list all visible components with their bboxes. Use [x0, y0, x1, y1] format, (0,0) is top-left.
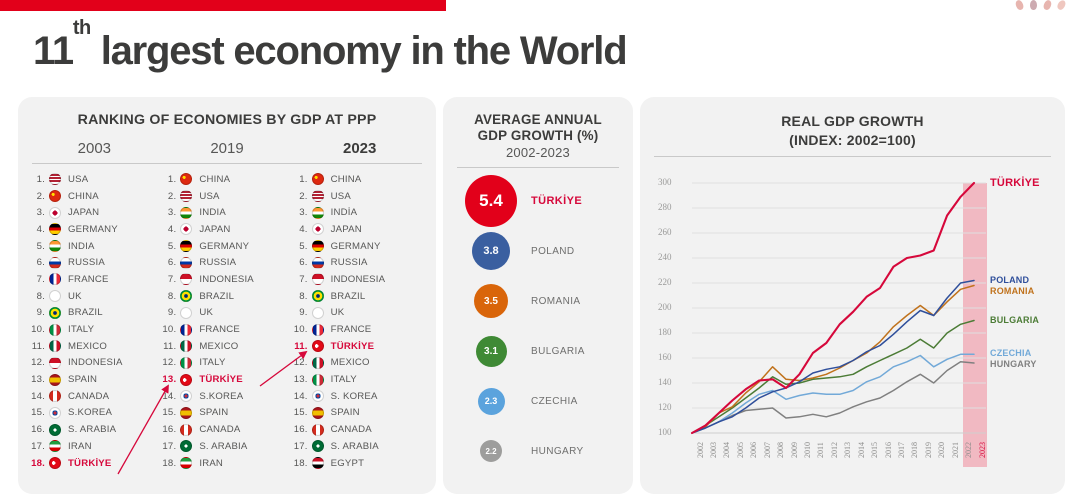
rank-number: 12. [293, 357, 312, 368]
country-name: ITALY [61, 324, 94, 335]
rank-number: 4. [161, 224, 180, 235]
flag-icon-br [312, 290, 324, 302]
growth-panel-subtitle: 2002-2023 [451, 145, 625, 161]
y-axis-tick-label: 120 [658, 402, 672, 412]
country-name: UK [192, 307, 213, 318]
country-name: CANADA [324, 424, 372, 435]
flag-icon-us [49, 173, 61, 185]
x-axis-tick-label: 2010 [803, 442, 812, 458]
country-name: ITALY [192, 357, 225, 368]
x-axis-tick-label: 2020 [937, 442, 946, 458]
table-row: 12.MEXICO [293, 355, 424, 372]
rank-number: 15. [293, 407, 312, 418]
rank-number: 11. [161, 341, 180, 352]
table-row: 4.JAPAN [161, 221, 292, 238]
flag-icon-us [312, 190, 324, 202]
x-axis-tick-label: 2004 [722, 442, 731, 458]
table-row: 17.S. ARABIA [293, 438, 424, 455]
series-label-hungary: HUNGARY [990, 359, 1037, 369]
table-row: 11.MEXICO [30, 338, 161, 355]
growth-bubble-label: POLAND [517, 246, 575, 257]
chart-panel-title: REAL GDP GROWTH (INDEX: 2002=100) [640, 97, 1065, 150]
country-name: TÜRKİYE [324, 341, 375, 352]
flag-icon-de [49, 223, 61, 235]
table-row: 6.RUSSIA [293, 254, 424, 271]
country-name: S.KOREA [192, 391, 243, 402]
table-row: 16.CANADA [161, 421, 292, 438]
growth-bubble-value: 2.3 [478, 388, 505, 415]
x-axis-tick-label: 2005 [736, 442, 745, 458]
flag-icon-ca [49, 390, 61, 402]
rank-number: 5. [293, 241, 312, 252]
series-label-bulgaria: BULGARIA [990, 315, 1039, 325]
page-title: 11th largest economy in the World [33, 29, 626, 74]
flag-icon-br [49, 307, 61, 319]
table-row: 3.JAPAN [30, 204, 161, 221]
country-name: CHINA [61, 191, 99, 202]
flag-icon-in [180, 207, 192, 219]
country-name: IRAN [61, 441, 92, 452]
country-name: INDONESIA [192, 274, 254, 285]
table-row: 18.EGYPT [293, 455, 424, 472]
table-row: 4.GERMANY [30, 221, 161, 238]
table-row: 7.INDONESIA [293, 271, 424, 288]
y-axis-tick-label: 200 [658, 302, 672, 312]
year-header-2023: 2023 [293, 140, 426, 157]
flag-icon-kr [180, 390, 192, 402]
rank-number: 2. [161, 191, 180, 202]
table-row: 17.IRAN [30, 438, 161, 455]
growth-bubble-list: 5.4TÜRKİYE3.8POLAND3.5ROMANIA3.1BULGARIA… [443, 168, 633, 476]
flag-icon-ir [180, 457, 192, 469]
x-axis-tick-label: 2022 [964, 442, 973, 458]
y-axis-tick-label: 220 [658, 277, 672, 287]
table-row: 4.JAPAN [293, 221, 424, 238]
x-axis-tick-label: 2017 [897, 442, 906, 458]
table-row: 15.SPAIN [161, 405, 292, 422]
country-name: INDIA [61, 241, 95, 252]
table-row: 8.BRAZIL [293, 288, 424, 305]
country-name: FRANCE [324, 324, 372, 335]
rank-number: 3. [161, 207, 180, 218]
y-axis-tick-label: 100 [658, 427, 672, 437]
rank-number: 3. [30, 207, 49, 218]
rank-number: 11. [30, 341, 49, 352]
country-name: UK [324, 307, 345, 318]
flag-icon-jp [312, 223, 324, 235]
page-title-ordinal: th [73, 17, 91, 39]
rank-number: 2. [30, 191, 49, 202]
series-label-romania: ROMANIA [990, 286, 1034, 296]
table-row: 1.CHINA [293, 171, 424, 188]
rank-number: 6. [293, 257, 312, 268]
table-row: 10.FRANCE [161, 321, 292, 338]
flag-icon-jp [180, 223, 192, 235]
flag-icon-fr [49, 273, 61, 285]
ranking-columns: 1.USA2.CHINA3.JAPAN4.GERMANY5.INDIA6.RUS… [18, 164, 436, 471]
ranking-row-highlight: 18.TÜRKİYE [30, 455, 161, 472]
rank-number: 13. [161, 374, 180, 385]
table-row: 10.FRANCE [293, 321, 424, 338]
page-title-rest: largest economy in the World [91, 29, 627, 73]
country-name: IRAN [192, 458, 223, 469]
rank-number: 10. [293, 324, 312, 335]
growth-bubble-value: 3.1 [476, 336, 507, 367]
growth-panel-title: AVERAGE ANNUAL GDP GROWTH (%) 2002-2023 [443, 97, 633, 161]
x-axis-tick-label: 2002 [696, 442, 705, 458]
gdp-chart-panel: REAL GDP GROWTH (INDEX: 2002=100) 100120… [640, 97, 1065, 494]
flag-icon-id [49, 357, 61, 369]
year-header-2019: 2019 [161, 140, 294, 157]
rank-number: 5. [30, 241, 49, 252]
flag-icon-it [49, 324, 61, 336]
series-label-türki̇ye: TÜRKİYE [990, 177, 1040, 189]
page-title-number: 11 [33, 29, 73, 73]
rank-number: 7. [293, 274, 312, 285]
x-axis-tick-label: 2009 [790, 442, 799, 458]
flag-icon-in [49, 240, 61, 252]
table-row: 5.GERMANY [161, 238, 292, 255]
rank-number: 14. [293, 391, 312, 402]
flag-icon-it [312, 374, 324, 386]
country-name: EGYPT [324, 458, 365, 469]
rank-number: 6. [161, 257, 180, 268]
country-name: CHINA [192, 174, 230, 185]
table-row: 3.INDİA [293, 204, 424, 221]
table-row: 11.MEXICO [161, 338, 292, 355]
rank-number: 4. [293, 224, 312, 235]
ranking-column-2003: 1.USA2.CHINA3.JAPAN4.GERMANY5.INDIA6.RUS… [30, 171, 161, 471]
country-name: JAPAN [324, 224, 362, 235]
country-name: S.KOREA [61, 407, 112, 418]
x-axis-tick-label: 2014 [857, 442, 866, 458]
country-name: BRAZIL [61, 307, 103, 318]
country-name: CHINA [324, 174, 362, 185]
country-name: RUSSIA [192, 257, 236, 268]
rank-number: 10. [30, 324, 49, 335]
country-name: S. ARABIA [61, 424, 116, 435]
country-name: INDİA [324, 207, 358, 218]
chart-plot-area: 1001201401601802002202402602803002002200… [654, 175, 1051, 485]
table-row: 17.S. ARABIA [161, 438, 292, 455]
ranking-row-highlight: 11.TÜRKİYE [293, 338, 424, 355]
top-accent-bar [0, 0, 446, 11]
rank-number: 18. [293, 458, 312, 469]
country-name: MEXICO [192, 341, 238, 352]
growth-title-line1: AVERAGE ANNUAL [451, 112, 625, 128]
country-name: FRANCE [192, 324, 240, 335]
country-name: USA [192, 191, 219, 202]
rank-number: 17. [161, 441, 180, 452]
rank-number: 7. [161, 274, 180, 285]
country-name: MEXICO [324, 357, 370, 368]
country-name: TÜRKİYE [192, 374, 243, 385]
flag-icon-ca [180, 424, 192, 436]
rank-number: 16. [293, 424, 312, 435]
flag-icon-sa [312, 440, 324, 452]
table-row: 6.RUSSIA [161, 254, 292, 271]
y-axis-tick-label: 300 [658, 177, 672, 187]
country-name: SPAIN [324, 407, 360, 418]
country-name: USA [61, 174, 88, 185]
table-row: 15.SPAIN [293, 405, 424, 422]
rank-number: 2. [293, 191, 312, 202]
tulip-logo-icon [1012, 0, 1072, 16]
flag-icon-es [180, 407, 192, 419]
table-row: 8.UK [30, 288, 161, 305]
ranking-panel: RANKING OF ECONOMIES BY GDP AT PPP 2003 … [18, 97, 436, 494]
flag-icon-fr [312, 324, 324, 336]
y-axis-tick-label: 280 [658, 202, 672, 212]
flag-icon-gb [49, 290, 61, 302]
table-row: 8.BRAZIL [161, 288, 292, 305]
rank-number: 18. [161, 458, 180, 469]
chart-title-line2: (INDEX: 2002=100) [640, 131, 1065, 150]
table-row: 15.S.KOREA [30, 405, 161, 422]
country-name: S. KOREA [324, 391, 378, 402]
x-axis-tick-label: 2021 [951, 442, 960, 458]
x-axis-tick-label: 2012 [830, 442, 839, 458]
rank-number: 13. [293, 374, 312, 385]
country-name: JAPAN [61, 207, 99, 218]
growth-bubble-label: HUNGARY [517, 446, 584, 457]
country-name: INDIA [192, 207, 226, 218]
table-row: 6.RUSSIA [30, 254, 161, 271]
rank-number: 8. [30, 291, 49, 302]
x-axis-tick-label: 2019 [924, 442, 933, 458]
table-row: 14.CANADA [30, 388, 161, 405]
country-name: SPAIN [192, 407, 228, 418]
growth-bubble-label: TÜRKİYE [517, 195, 582, 207]
flag-icon-es [49, 374, 61, 386]
country-name: GERMANY [324, 241, 381, 252]
rank-number: 9. [161, 307, 180, 318]
country-name: CANADA [192, 424, 240, 435]
flag-icon-jp [49, 207, 61, 219]
flag-icon-de [312, 240, 324, 252]
flag-icon-it [180, 357, 192, 369]
growth-bubble-row: 3.1BULGARIA [443, 326, 633, 376]
x-axis-tick-label: 2003 [709, 442, 718, 458]
flag-icon-id [180, 273, 192, 285]
country-name: INDONESIA [61, 357, 123, 368]
growth-title-line2: GDP GROWTH (%) [451, 128, 625, 144]
table-row: 18.IRAN [161, 455, 292, 472]
ranking-panel-title: RANKING OF ECONOMIES BY GDP AT PPP [18, 97, 436, 128]
series-label-czechia: CZECHIA [990, 348, 1031, 358]
flag-icon-es [312, 407, 324, 419]
country-name: S. ARABIA [192, 441, 247, 452]
flag-icon-id [312, 273, 324, 285]
table-row: 9.BRAZIL [30, 305, 161, 322]
country-name: RUSSIA [324, 257, 368, 268]
ranking-row-highlight: 13.TÜRKİYE [161, 371, 292, 388]
table-row: 9.UK [293, 305, 424, 322]
table-row: 3.INDIA [161, 204, 292, 221]
growth-bubble-row: 5.4TÜRKİYE [443, 176, 633, 226]
growth-bubble-row: 3.5ROMANIA [443, 276, 633, 326]
table-row: 2.USA [161, 188, 292, 205]
rank-number: 1. [293, 174, 312, 185]
country-name: USA [324, 191, 351, 202]
country-name: GERMANY [192, 241, 249, 252]
table-row: 12.INDONESIA [30, 355, 161, 372]
flag-icon-cn [312, 173, 324, 185]
table-row: 13.SPAIN [30, 371, 161, 388]
growth-bubble-value: 3.5 [474, 284, 508, 318]
flag-icon-de [180, 240, 192, 252]
average-growth-panel: AVERAGE ANNUAL GDP GROWTH (%) 2002-2023 … [443, 97, 633, 494]
table-row: 1.CHINA [161, 171, 292, 188]
x-axis-tick-label: 2023 [978, 442, 987, 458]
flag-icon-us [180, 190, 192, 202]
flag-icon-ru [49, 257, 61, 269]
country-name: S. ARABIA [324, 441, 379, 452]
rank-number: 17. [293, 441, 312, 452]
flag-icon-tr [312, 340, 324, 352]
rank-number: 8. [161, 291, 180, 302]
country-name: UK [61, 291, 82, 302]
flag-icon-sa [49, 424, 61, 436]
table-row: 7.FRANCE [30, 271, 161, 288]
x-axis-tick-label: 2007 [763, 442, 772, 458]
flag-icon-mx [312, 357, 324, 369]
flag-icon-eg [312, 457, 324, 469]
flag-icon-in [312, 207, 324, 219]
table-row: 13.ITALY [293, 371, 424, 388]
series-label-poland: POLAND [990, 275, 1029, 285]
growth-bubble-row: 3.8POLAND [443, 226, 633, 276]
country-name: ITALY [324, 374, 357, 385]
rank-number: 9. [30, 307, 49, 318]
flag-icon-ca [312, 424, 324, 436]
chart-divider [654, 156, 1051, 157]
country-name: SPAIN [61, 374, 97, 385]
rank-number: 10. [161, 324, 180, 335]
growth-bubble-label: ROMANIA [517, 296, 580, 307]
rank-number: 1. [161, 174, 180, 185]
country-name: TÜRKİYE [61, 458, 112, 469]
table-row: 2.USA [293, 188, 424, 205]
rank-number: 14. [161, 391, 180, 402]
x-axis-tick-label: 2006 [749, 442, 758, 458]
rank-number: 8. [293, 291, 312, 302]
flag-icon-tr [180, 374, 192, 386]
x-axis-tick-label: 2015 [870, 442, 879, 458]
ranking-year-headers: 2003 2019 2023 [18, 140, 436, 157]
table-row: 14.S. KOREA [293, 388, 424, 405]
y-axis-tick-label: 160 [658, 352, 672, 362]
flag-icon-cn [49, 190, 61, 202]
flag-icon-ir [49, 440, 61, 452]
x-axis-tick-label: 2016 [884, 442, 893, 458]
table-row: 9.UK [161, 305, 292, 322]
x-axis-tick-label: 2008 [776, 442, 785, 458]
country-name: RUSSIA [61, 257, 105, 268]
chart-title-line1: REAL GDP GROWTH [640, 112, 1065, 131]
x-axis-tick-label: 2013 [843, 442, 852, 458]
rank-number: 14. [30, 391, 49, 402]
growth-bubble-value: 3.8 [472, 232, 510, 270]
growth-bubble-value: 2.2 [480, 440, 502, 462]
flag-icon-gb [312, 307, 324, 319]
flag-icon-ru [180, 257, 192, 269]
table-row: 1.USA [30, 171, 161, 188]
rank-number: 13. [30, 374, 49, 385]
flag-icon-gb [180, 307, 192, 319]
growth-bubble-row: 2.3CZECHIA [443, 376, 633, 426]
country-name: JAPAN [192, 224, 230, 235]
country-name: MEXICO [61, 341, 107, 352]
flag-icon-tr [49, 457, 61, 469]
flag-icon-mx [180, 340, 192, 352]
country-name: INDONESIA [324, 274, 386, 285]
year-header-2003: 2003 [28, 140, 161, 157]
table-row: 12.ITALY [161, 355, 292, 372]
rank-number: 7. [30, 274, 49, 285]
rank-number: 15. [30, 407, 49, 418]
table-row: 16.S. ARABIA [30, 421, 161, 438]
growth-bubble-label: BULGARIA [517, 346, 585, 357]
rank-number: 1. [30, 174, 49, 185]
table-row: 16.CANADA [293, 421, 424, 438]
rank-number: 6. [30, 257, 49, 268]
country-name: CANADA [61, 391, 109, 402]
rank-number: 12. [161, 357, 180, 368]
table-row: 14.S.KOREA [161, 388, 292, 405]
flag-icon-mx [49, 340, 61, 352]
x-axis-tick-label: 2011 [816, 442, 825, 458]
y-axis-tick-label: 180 [658, 327, 672, 337]
growth-bubble-row: 2.2HUNGARY [443, 426, 633, 476]
rank-number: 4. [30, 224, 49, 235]
flag-icon-kr [49, 407, 61, 419]
table-row: 10.ITALY [30, 321, 161, 338]
table-row: 7.INDONESIA [161, 271, 292, 288]
country-name: FRANCE [61, 274, 109, 285]
rank-number: 16. [161, 424, 180, 435]
flag-icon-br [180, 290, 192, 302]
growth-bubble-label: CZECHIA [517, 396, 578, 407]
y-axis-tick-label: 140 [658, 377, 672, 387]
country-name: GERMANY [61, 224, 118, 235]
x-axis-tick-label: 2018 [910, 442, 919, 458]
rank-number: 9. [293, 307, 312, 318]
flag-icon-sa [180, 440, 192, 452]
rank-number: 18. [30, 458, 49, 469]
growth-bubble-value: 5.4 [465, 175, 517, 227]
flag-icon-ru [312, 257, 324, 269]
country-name: BRAZIL [192, 291, 234, 302]
rank-number: 15. [161, 407, 180, 418]
flag-icon-kr [312, 390, 324, 402]
table-row: 5.GERMANY [293, 238, 424, 255]
rank-number: 11. [293, 341, 312, 352]
ranking-column-2023: 1.CHINA2.USA3.INDİA4.JAPAN5.GERMANY6.RUS… [293, 171, 424, 471]
y-axis-tick-label: 240 [658, 252, 672, 262]
flag-icon-fr [180, 324, 192, 336]
flag-icon-cn [180, 173, 192, 185]
rank-number: 16. [30, 424, 49, 435]
country-name: BRAZIL [324, 291, 366, 302]
rank-number: 3. [293, 207, 312, 218]
y-axis-tick-label: 260 [658, 227, 672, 237]
table-row: 5.INDIA [30, 238, 161, 255]
rank-number: 12. [30, 357, 49, 368]
rank-number: 17. [30, 441, 49, 452]
ranking-column-2019: 1.CHINA2.USA3.INDIA4.JAPAN5.GERMANY6.RUS… [161, 171, 292, 471]
table-row: 2.CHINA [30, 188, 161, 205]
